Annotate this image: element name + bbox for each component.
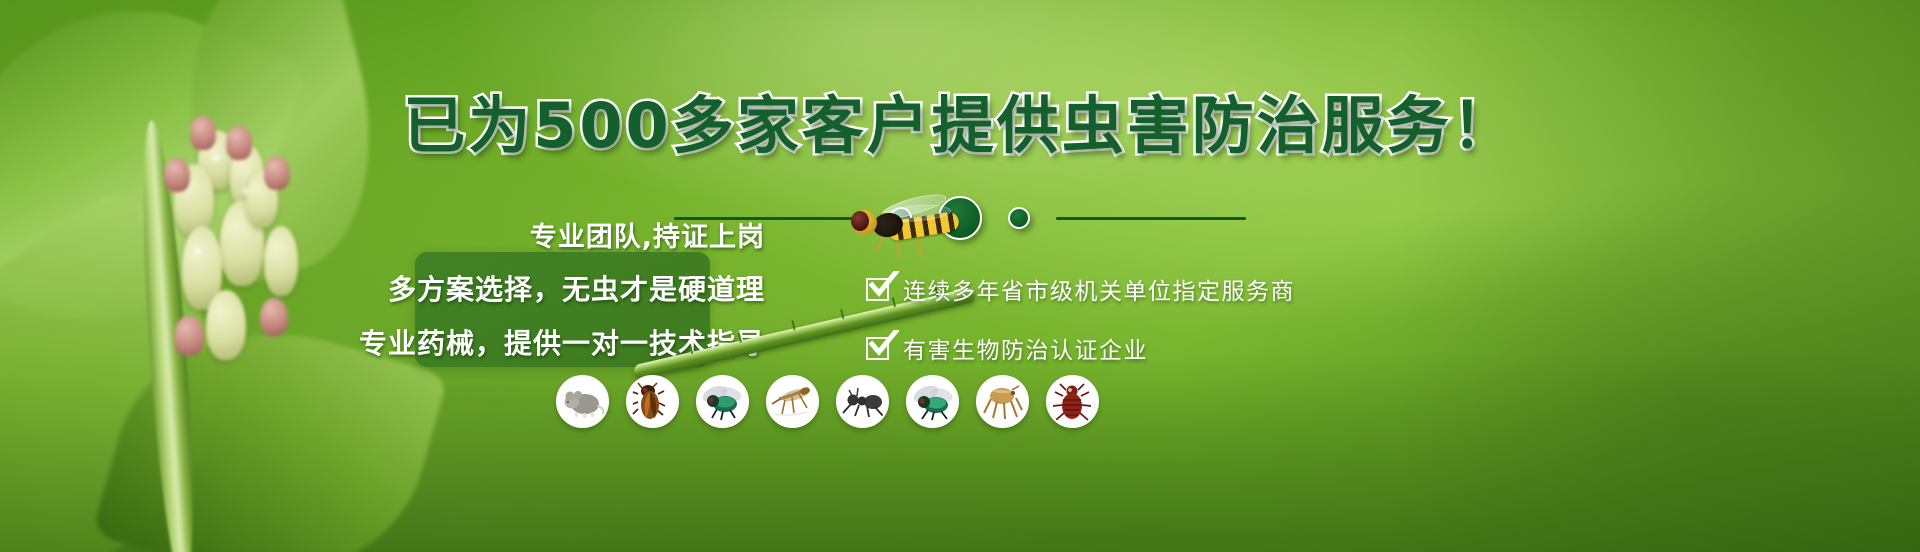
pest-icon-strip	[556, 375, 1099, 428]
plant-seed-cluster	[168, 130, 316, 380]
checkbox-checked-icon	[866, 337, 889, 360]
divider-rule-right	[1056, 217, 1246, 220]
banner-headline: 已为500多家客户提供虫害防治服务！	[0, 75, 1920, 165]
cockroach-icon[interactable]	[626, 375, 679, 428]
feature-list: 连续多年省市级机关单位指定服务商 有害生物防治认证企业	[866, 272, 1295, 365]
bedbug-icon[interactable]	[1046, 375, 1099, 428]
selling-point-line-1: 专业团队,持证上岗	[530, 215, 765, 254]
feature-label: 有害生物防治认证企业	[903, 331, 1148, 365]
hoverfly-icon	[845, 196, 965, 258]
feature-item: 有害生物防治认证企业	[866, 331, 1295, 365]
feature-label: 连续多年省市级机关单位指定服务商	[903, 272, 1295, 306]
flea-icon[interactable]	[976, 375, 1029, 428]
promo-banner: 已为500多家客户提供虫害防治服务！ 专业团队,持证上岗 多方案选择，无虫才是硬…	[0, 0, 1920, 552]
selling-point-line-2: 多方案选择，无虫才是硬道理	[388, 268, 765, 308]
divider-dot-small-right	[1008, 207, 1030, 229]
checkbox-checked-icon	[866, 278, 889, 301]
mosquito-icon[interactable]	[766, 375, 819, 428]
feature-item: 连续多年省市级机关单位指定服务商	[866, 272, 1295, 306]
mouse-icon[interactable]	[556, 375, 609, 428]
blowfly-icon[interactable]	[906, 375, 959, 428]
fly-icon[interactable]	[696, 375, 749, 428]
ant-icon[interactable]	[836, 375, 889, 428]
